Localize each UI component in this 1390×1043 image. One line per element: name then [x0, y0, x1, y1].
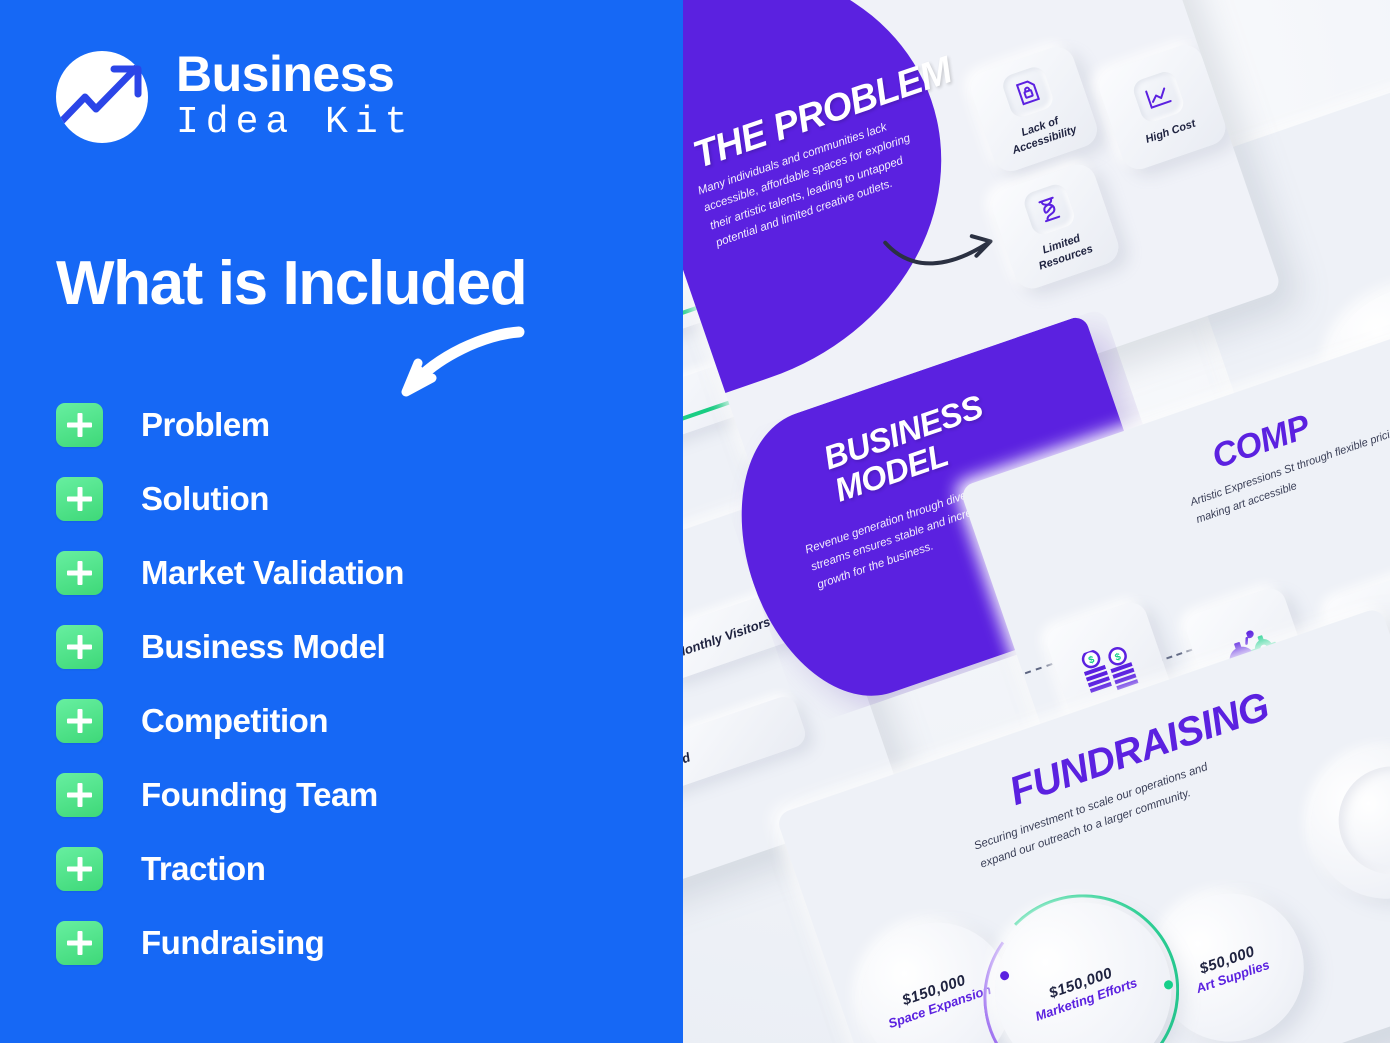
- plus-icon: [56, 699, 103, 743]
- list-item[interactable]: Solution: [56, 462, 656, 536]
- traction-stat-label: Monthly Visitors: [683, 613, 772, 665]
- plus-icon: [56, 477, 103, 521]
- problem-card-label: Lack of Accessibility: [987, 104, 1098, 165]
- problem-card: Lack of Accessibility: [966, 42, 1102, 175]
- included-features-list: Problem Solution Market Validation Busin…: [56, 388, 656, 980]
- line-chart-icon: [1131, 68, 1187, 124]
- list-item[interactable]: Fundraising: [56, 906, 656, 980]
- slide-deck-preview: Accessible Spaces Drop-in Fees on Worksh…: [683, 0, 1390, 1043]
- list-item[interactable]: Traction: [56, 832, 656, 906]
- plus-icon: [56, 773, 103, 817]
- traction-stat-item: held: [683, 693, 809, 794]
- list-item[interactable]: Market Validation: [56, 536, 656, 610]
- problem-card: Limited Resources: [987, 160, 1123, 293]
- brand-logo[interactable]: Business Idea Kit: [52, 47, 414, 147]
- brand-subtitle: Idea Kit: [176, 101, 414, 145]
- growth-chart-arrow-icon: [52, 47, 152, 147]
- list-item-label: Solution: [141, 480, 269, 518]
- fundraising-bubble: $150,000 Marketing Efforts: [971, 879, 1195, 1043]
- page-title: What is Included: [56, 248, 526, 319]
- list-item[interactable]: Competition: [56, 684, 656, 758]
- hourglass-icon: [1021, 181, 1077, 237]
- list-item-label: Traction: [141, 850, 265, 888]
- traction-stat-label: held: [683, 749, 692, 777]
- list-item-label: Fundraising: [141, 924, 324, 962]
- brand-title: Business: [176, 49, 414, 100]
- plus-icon: [56, 403, 103, 447]
- list-item[interactable]: Founding Team: [56, 758, 656, 832]
- list-item-label: Problem: [141, 406, 270, 444]
- list-item-label: Competition: [141, 702, 328, 740]
- plus-icon: [56, 625, 103, 669]
- left-info-panel: Business Idea Kit What is Included Probl…: [0, 0, 683, 1043]
- brand-wordmark: Business Idea Kit: [176, 49, 414, 145]
- list-item[interactable]: Business Model: [56, 610, 656, 684]
- list-item[interactable]: Problem: [56, 388, 656, 462]
- plus-icon: [56, 847, 103, 891]
- lock-document-icon: [1000, 64, 1056, 120]
- list-item-label: Market Validation: [141, 554, 404, 592]
- plus-icon: [56, 921, 103, 965]
- list-item-label: Business Model: [141, 628, 385, 666]
- plus-icon: [56, 551, 103, 595]
- problem-card-label: Limited Resources: [1008, 221, 1119, 282]
- list-item-label: Founding Team: [141, 776, 378, 814]
